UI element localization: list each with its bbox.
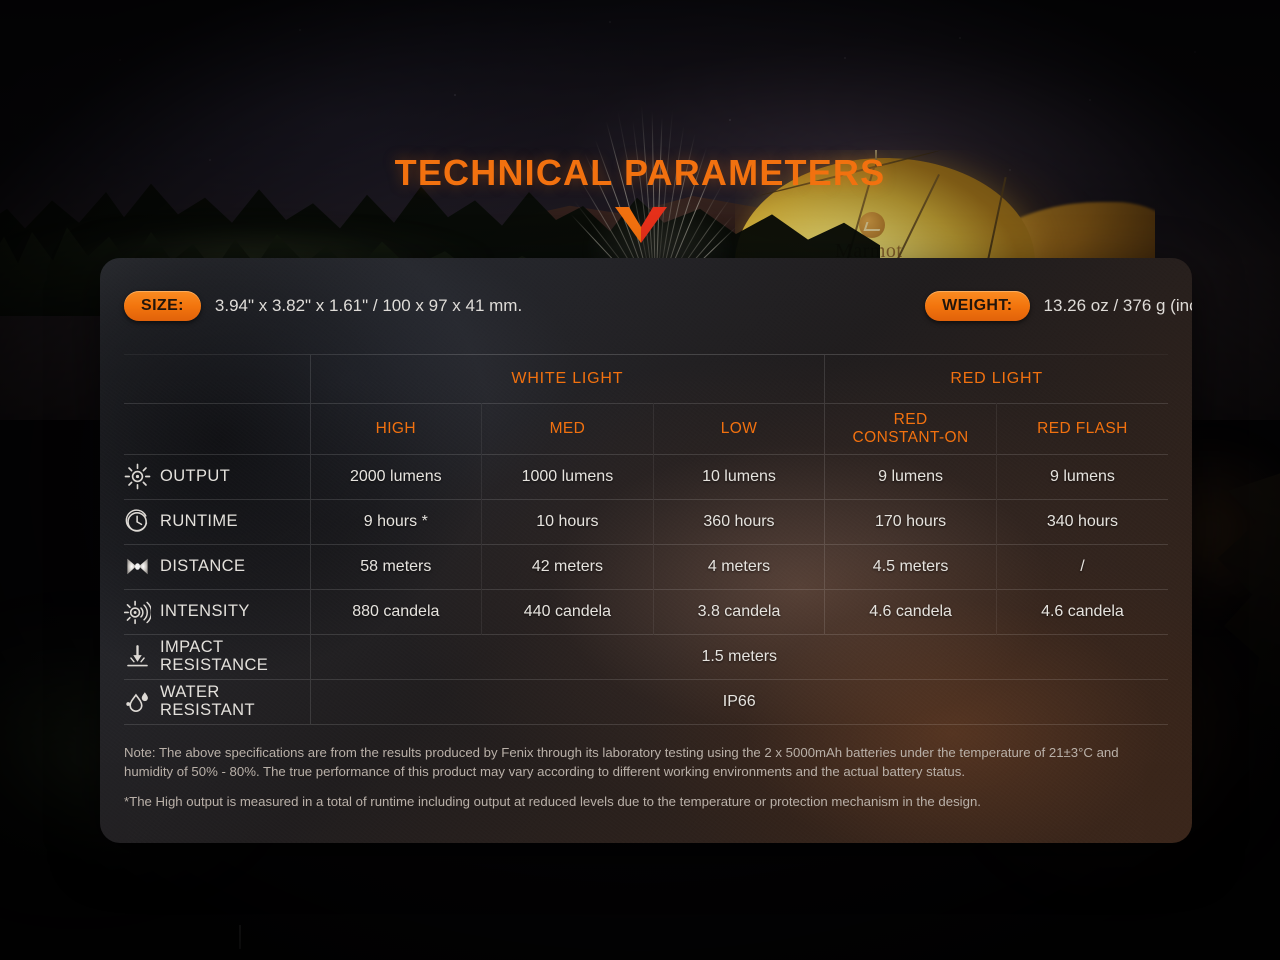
corner-cell [124, 355, 310, 403]
table-row: WATER RESISTANT IP66 [124, 679, 1168, 724]
specifications-table: WHITE LIGHT RED LIGHT HIGH MED LOW RED C… [124, 355, 1168, 725]
row-label-line2: RESISTANT [160, 702, 255, 720]
mode-header-line2: CONSTANT-ON [825, 429, 996, 446]
chevron-down-icon [613, 205, 669, 245]
row-label-line1: WATER [160, 684, 255, 702]
cell-output-med: 1000 lumens [482, 454, 654, 499]
size-badge: SIZE: [124, 291, 201, 321]
table-group-header-row: WHITE LIGHT RED LIGHT [124, 355, 1168, 403]
cell-distance-low: 4 meters [653, 544, 825, 589]
cell-intensity-med: 440 candela [482, 589, 654, 634]
cell-distance-high: 58 meters [310, 544, 482, 589]
table-row: OUTPUT 2000 lumens 1000 lumens 10 lumens… [124, 454, 1168, 499]
intensity-icon [124, 598, 151, 625]
row-label-text: DISTANCE [160, 558, 245, 576]
mode-header-spacer [124, 403, 310, 454]
cell-distance-med: 42 meters [482, 544, 654, 589]
row-label-text: WATER RESISTANT [160, 684, 255, 719]
mode-header-high: HIGH [310, 403, 482, 454]
mode-header-red-flash: RED FLASH [996, 403, 1168, 454]
cell-output-high: 2000 lumens [310, 454, 482, 499]
row-label-text: OUTPUT [160, 468, 230, 486]
footnote-high-output: *The High output is measured in a total … [124, 792, 1168, 811]
weight-value: 13.26 oz / 376 g (including battery). [1044, 296, 1192, 316]
cell-output-red-flash: 9 lumens [996, 454, 1168, 499]
mode-header-red-constant-on: RED CONSTANT-ON [825, 403, 997, 454]
size-value: 3.94" x 3.82" x 1.61" / 100 x 97 x 41 mm… [215, 296, 522, 316]
weight-badge: WEIGHT: [925, 291, 1029, 321]
beam-icon [124, 553, 151, 580]
cell-intensity-red-constant-on: 4.6 candela [825, 589, 997, 634]
mode-header-line1: RED [825, 411, 996, 428]
weight-spec: WEIGHT: 13.26 oz / 376 g (including batt… [925, 291, 1192, 321]
cell-intensity-high: 880 candela [310, 589, 482, 634]
spec-panel: SIZE: 3.94" x 3.82" x 1.61" / 100 x 97 x… [100, 258, 1192, 843]
footnotes: Note: The above specifications are from … [124, 743, 1168, 811]
cell-runtime-high: 9 hours * [310, 499, 482, 544]
row-label-line1: IMPACT [160, 639, 268, 657]
impact-icon [124, 643, 151, 670]
table-mode-header-row: HIGH MED LOW RED CONSTANT-ON RED FLASH [124, 403, 1168, 454]
footnote-general: Note: The above specifications are from … [124, 743, 1168, 781]
size-spec: SIZE: 3.94" x 3.82" x 1.61" / 100 x 97 x… [124, 291, 522, 321]
table-row: RUNTIME 9 hours * 10 hours 360 hours 170… [124, 499, 1168, 544]
group-header-white-light: WHITE LIGHT [310, 355, 825, 403]
cell-runtime-med: 10 hours [482, 499, 654, 544]
table-bottom-rule [124, 724, 1168, 725]
row-label-line2: RESISTANCE [160, 657, 268, 675]
water-icon [124, 688, 151, 715]
group-header-red-light: RED LIGHT [825, 355, 1168, 403]
row-label-text: RUNTIME [160, 513, 238, 531]
cell-intensity-low: 3.8 candela [653, 589, 825, 634]
table-row: INTENSITY 880 candela 440 candela 3.8 ca… [124, 589, 1168, 634]
cell-runtime-red-constant-on: 170 hours [825, 499, 997, 544]
cell-output-red-constant-on: 9 lumens [825, 454, 997, 499]
cell-distance-red-flash: / [996, 544, 1168, 589]
row-label-distance: DISTANCE [124, 544, 310, 589]
cell-impact-resistance: 1.5 meters [310, 634, 1168, 679]
cell-water-resistant: IP66 [310, 679, 1168, 724]
table-row: IMPACT RESISTANCE 1.5 meters [124, 634, 1168, 679]
spec-summary-bar: SIZE: 3.94" x 3.82" x 1.61" / 100 x 97 x… [100, 258, 1192, 354]
mode-header-low: LOW [653, 403, 825, 454]
row-label-intensity: INTENSITY [124, 589, 310, 634]
row-label-text: INTENSITY [160, 603, 250, 621]
cell-intensity-red-flash: 4.6 candela [996, 589, 1168, 634]
cell-distance-red-constant-on: 4.5 meters [825, 544, 997, 589]
row-label-water-resistant: WATER RESISTANT [124, 679, 310, 724]
table-row: DISTANCE 58 meters 42 meters 4 meters 4.… [124, 544, 1168, 589]
row-label-output: OUTPUT [124, 454, 310, 499]
sun-icon [124, 463, 151, 490]
cell-runtime-red-flash: 340 hours [996, 499, 1168, 544]
cell-runtime-low: 360 hours [653, 499, 825, 544]
row-label-impact-resistance: IMPACT RESISTANCE [124, 634, 310, 679]
clock-icon [124, 508, 151, 535]
cell-output-low: 10 lumens [653, 454, 825, 499]
row-label-runtime: RUNTIME [124, 499, 310, 544]
mode-header-med: MED [482, 403, 654, 454]
page-title: TECHNICAL PARAMETERS [0, 152, 1280, 194]
scene-marker [239, 925, 241, 949]
marmot-logo-icon [859, 212, 885, 238]
row-label-text: IMPACT RESISTANCE [160, 639, 268, 674]
